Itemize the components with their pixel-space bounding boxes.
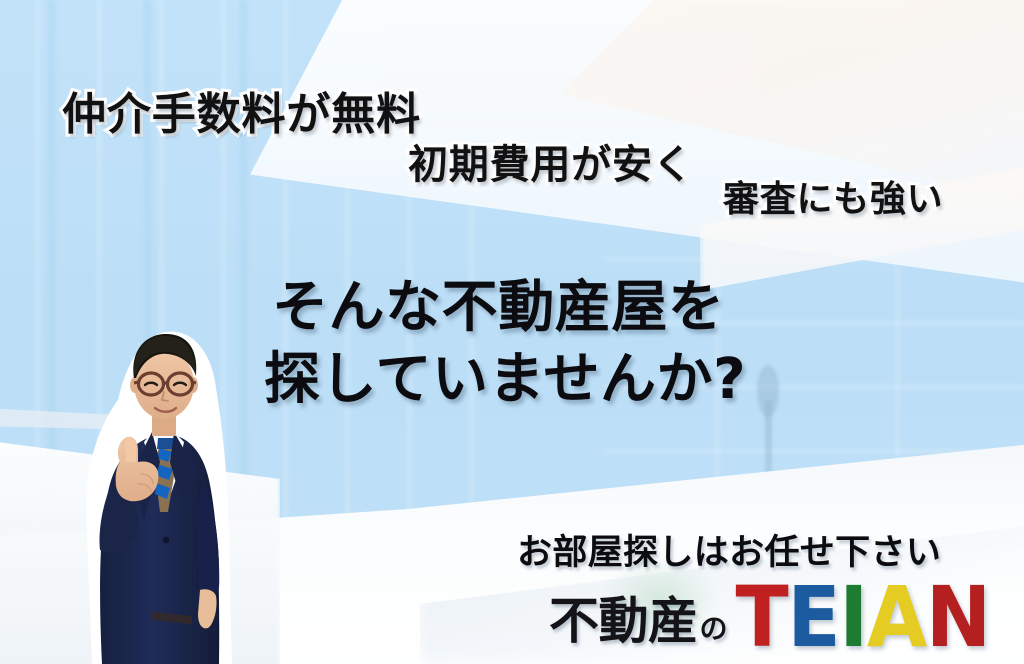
advertisement-banner: 仲介手数料が無料 初期費用が安く 審査にも強い そんな不動産屋を 探していません… — [0, 0, 1024, 664]
logo-brand-teian: TEIAN — [736, 587, 990, 651]
feature-text-strong-screening: 審査にも強い — [723, 170, 943, 222]
logo-letter-i: I — [839, 584, 867, 653]
logo-letter-a: A — [867, 584, 926, 653]
feature-text-low-initial-cost: 初期費用が安く — [408, 132, 694, 190]
logo-japanese-text: 不動産 — [549, 596, 698, 646]
logo-letter-n: N — [926, 584, 990, 653]
headline-line-2: 探していませんか? — [264, 334, 746, 415]
logo-letter-e: E — [787, 584, 839, 653]
logo-letter-t: T — [736, 584, 788, 653]
headline-line-1: そんな不動産屋を — [272, 262, 724, 343]
tagline: お部屋探しはお任せ下さい — [517, 524, 941, 575]
logo-particle-no: の — [700, 615, 728, 643]
company-logo[interactable]: 不動産 の TEIAN — [549, 582, 990, 646]
businessman-thumbs-up-photo — [56, 312, 240, 664]
feature-text-no-brokerage-fee: 仲介手数料が無料 — [62, 78, 421, 142]
